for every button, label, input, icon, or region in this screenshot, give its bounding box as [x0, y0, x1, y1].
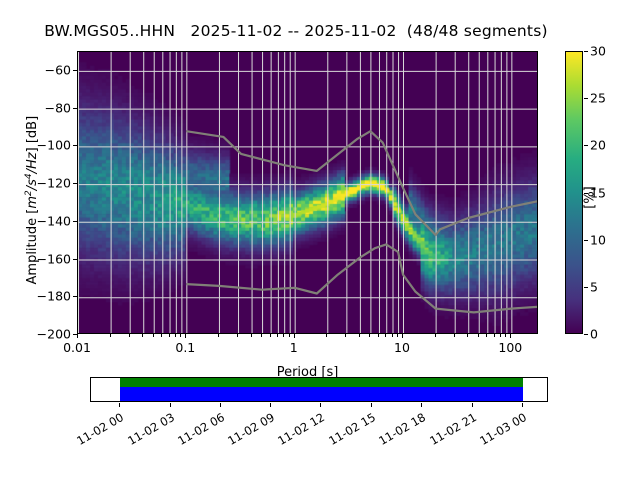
x-tick-minor	[110, 334, 111, 337]
x-tick-minor	[500, 334, 501, 337]
timeline-psd-band	[120, 378, 523, 387]
y-tick-label: −140	[11, 213, 71, 228]
y-tick-mark	[73, 221, 77, 222]
y-tick-mark	[73, 259, 77, 260]
colorbar-label: [%]	[583, 138, 598, 258]
x-tick-minor	[378, 334, 379, 337]
x-tick-minor	[283, 334, 284, 337]
timeline-data-band	[120, 387, 523, 401]
x-tick-minor	[142, 334, 143, 337]
timeline-tick-mark	[220, 403, 221, 407]
colorbar-tick-mark	[584, 98, 588, 99]
y-tick-mark	[73, 183, 77, 184]
y-tick-mark	[73, 70, 77, 71]
y-tick-label: −100	[11, 138, 71, 153]
x-tick-minor	[494, 334, 495, 337]
x-tick-minor	[169, 334, 170, 337]
x-tick-minor	[385, 334, 386, 337]
colorbar-tick-label: 0	[590, 327, 598, 342]
x-tick-minor	[270, 334, 271, 337]
timeline-tick-mark	[170, 403, 171, 407]
y-tick-label: −160	[11, 251, 71, 266]
timeline-tick-mark	[320, 403, 321, 407]
x-tick-minor	[326, 334, 327, 337]
y-tick-label: −180	[11, 289, 71, 304]
x-tick-label: 1	[264, 340, 324, 355]
x-tick-minor	[218, 334, 219, 337]
colorbar-gradient	[565, 51, 583, 334]
plot-title: BW.MGS05..HHN 2025-11-02 -- 2025-11-02 (…	[0, 22, 592, 40]
timeline-tick-mark	[371, 403, 372, 407]
timeline-tick-mark	[421, 403, 422, 407]
x-tick-minor	[289, 334, 290, 337]
x-tick-label: 100	[480, 340, 540, 355]
x-tick-minor	[478, 334, 479, 337]
x-tick-minor	[180, 334, 181, 337]
x-tick-minor	[261, 334, 262, 337]
colorbar-tick-label: 30	[590, 44, 606, 59]
y-tick-mark	[73, 108, 77, 109]
x-tick-label: 10	[372, 340, 432, 355]
x-tick-minor	[392, 334, 393, 337]
y-tick-label: −80	[11, 100, 71, 115]
x-tick-minor	[129, 334, 130, 337]
x-tick-label: 0.1	[155, 340, 215, 355]
x-tick-minor	[505, 334, 506, 337]
x-tick-minor	[161, 334, 162, 337]
x-tick-mark	[294, 334, 295, 338]
x-tick-label: 0.01	[47, 340, 107, 355]
colorbar-tick-label: 25	[590, 91, 606, 106]
timeline-tick-mark	[522, 403, 523, 407]
ppsd-plot-area[interactable]	[77, 51, 538, 334]
timeline-coverage-bar[interactable]	[90, 377, 548, 402]
x-tick-minor	[397, 334, 398, 337]
noise-model-curves	[78, 52, 538, 334]
x-tick-minor	[237, 334, 238, 337]
x-tick-mark	[510, 334, 511, 338]
y-tick-mark	[73, 145, 77, 146]
x-tick-minor	[454, 334, 455, 337]
x-tick-minor	[359, 334, 360, 337]
timeline-tick-mark	[119, 403, 120, 407]
timeline-tick-mark	[472, 403, 473, 407]
x-tick-minor	[435, 334, 436, 337]
x-tick-minor	[486, 334, 487, 337]
x-tick-minor	[175, 334, 176, 337]
y-tick-label: −120	[11, 176, 71, 191]
x-tick-minor	[369, 334, 370, 337]
timeline-tick-mark	[270, 403, 271, 407]
y-tick-label: −60	[11, 62, 71, 77]
x-tick-minor	[277, 334, 278, 337]
colorbar-tick-mark	[584, 51, 588, 52]
x-tick-mark	[185, 334, 186, 338]
x-tick-minor	[153, 334, 154, 337]
x-tick-mark	[77, 334, 78, 338]
colorbar-tick-label: 5	[590, 279, 598, 294]
x-tick-minor	[251, 334, 252, 337]
y-tick-mark	[73, 296, 77, 297]
colorbar-tick-mark	[584, 287, 588, 288]
x-tick-minor	[345, 334, 346, 337]
x-tick-mark	[402, 334, 403, 338]
x-tick-minor	[467, 334, 468, 337]
colorbar-tick-mark	[584, 334, 588, 335]
